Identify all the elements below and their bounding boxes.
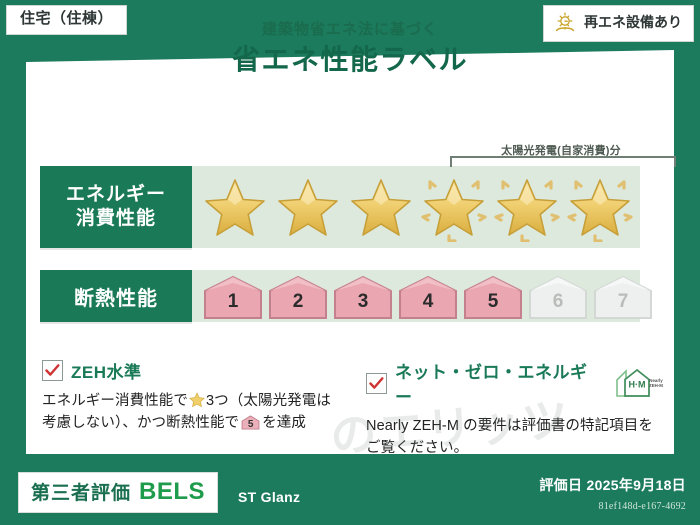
insulation-level-2: 2 [267, 274, 329, 320]
insulation-level-6: 6 [527, 274, 589, 320]
star-solar [419, 172, 489, 242]
third-party-label: 第三者評価 [31, 478, 131, 505]
insulation-level-value: 1 [202, 291, 264, 313]
insulation-level-1: 1 [202, 274, 264, 320]
star-filled [346, 172, 416, 242]
insulation-levels-band: 1234567 [192, 270, 640, 322]
energy-performance-label: エネルギー 消費性能 [40, 166, 192, 248]
insulation-level-value: 5 [462, 291, 524, 313]
property-name: ST Glanz [238, 489, 300, 505]
insulation-level-value: 2 [267, 291, 329, 313]
zeh-standard-header: ZEH水準 [42, 358, 342, 383]
energy-performance-row: エネルギー 消費性能 太陽光発電(自家消費)分 [40, 166, 640, 248]
energy-star-rating [200, 166, 635, 248]
svg-text:ZEH-M: ZEH-M [649, 383, 663, 388]
insulation-level-value: 6 [527, 291, 589, 313]
evaluation-date: 評価日 2025年9月18日 [539, 475, 686, 495]
insulation-level-7: 7 [592, 274, 654, 320]
label-subtitle: 建築物省エネ法に基づく [0, 18, 700, 39]
insulation-performance-row: 断熱性能 1234567 [40, 270, 640, 322]
inline-house-badge-value: 5 [241, 420, 260, 430]
bels-energy-label: 住宅（住棟） 再エネ設備あり 建築物省エネ法に基づく 省エネ性能ラベル エネルギ… [0, 0, 700, 525]
star-solar [492, 172, 562, 242]
zeh-standard-description: エネルギー消費性能で3つ（太陽光発電は考慮しない）、かつ断熱性能で5を達成 [42, 390, 342, 434]
insulation-level-value: 7 [592, 291, 654, 313]
insulation-level-5: 5 [462, 274, 524, 320]
zeh-text-a: エネルギー消費性能で [42, 393, 188, 409]
inline-house-badge: 5 [241, 415, 260, 430]
net-zero-energy-title: ネット・ゼロ・エネルギー [395, 358, 604, 408]
evaluation-id: 81ef148d-e167-4692 [599, 501, 686, 512]
bels-logo-text: BELS [139, 478, 205, 506]
insulation-level-value: 4 [397, 291, 459, 313]
insulation-level-scale: 1234567 [202, 272, 654, 320]
third-party-evaluation-chip: 第三者評価 BELS [18, 472, 218, 513]
evaluation-date-value: 2025年9月18日 [586, 477, 686, 493]
net-zero-energy-checkbox[interactable] [366, 373, 387, 394]
insulation-level-value: 3 [332, 291, 394, 313]
insulation-label-text: 断熱性能 [74, 282, 158, 311]
zeh-standard-block: ZEH水準 エネルギー消費性能で3つ（太陽光発電は考慮しない）、かつ断熱性能で5… [42, 358, 342, 434]
evaluation-date-label: 評価日 [539, 477, 582, 493]
insulation-performance-label: 断熱性能 [40, 270, 192, 322]
zeh-text-c: を達成 [262, 415, 306, 431]
star-filled [273, 172, 343, 242]
energy-stars-band: 太陽光発電(自家消費)分 [192, 166, 640, 248]
star-solar [565, 172, 635, 242]
check-icon [369, 377, 384, 390]
insulation-level-4: 4 [397, 274, 459, 320]
svg-text:H·M: H·M [629, 380, 646, 390]
energy-label-line1: エネルギー [66, 183, 166, 207]
inline-star-icon [189, 392, 205, 408]
zeh-m-logo: H·M Nearly ZEH-M [614, 366, 666, 400]
zeh-standard-title: ZEH水準 [71, 358, 142, 383]
zeh-standard-checkbox[interactable] [42, 360, 63, 381]
net-zero-energy-header: ネット・ゼロ・エネルギー H·M Nearly ZEH-M [366, 358, 666, 408]
star-filled [200, 172, 270, 242]
net-zero-energy-description: Nearly ZEH-M の要件は評価書の特記項目をご覧ください。 [366, 415, 666, 459]
check-icon [45, 364, 60, 377]
label-title: 省エネ性能ラベル [0, 38, 700, 78]
insulation-level-3: 3 [332, 274, 394, 320]
net-zero-energy-block: ネット・ゼロ・エネルギー H·M Nearly ZEH-M Nearly ZEH… [366, 358, 666, 459]
energy-label-line2: 消費性能 [76, 207, 156, 231]
